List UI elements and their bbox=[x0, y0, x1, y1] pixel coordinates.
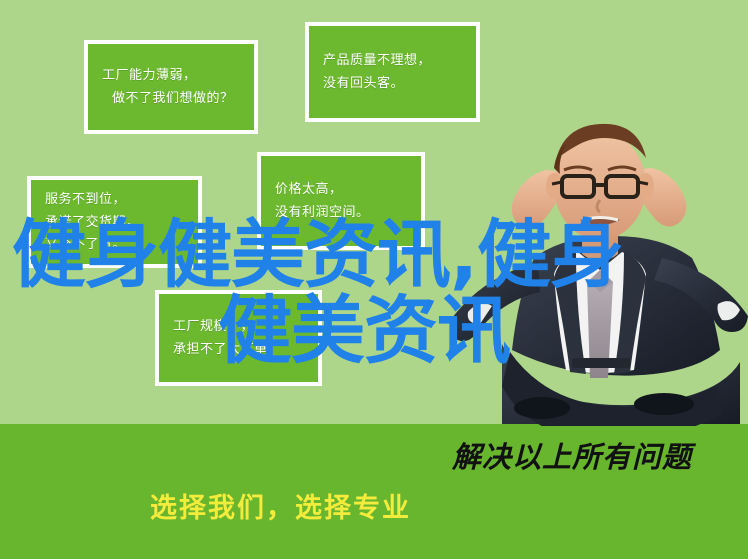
problem-box-price-too-high: 价格太高， 没有利润空间。 bbox=[257, 152, 425, 250]
slogan-solve-all-problems: 解决以上所有问题 bbox=[452, 444, 692, 473]
banner-canvas: 工厂能力薄弱， 做不了我们想做的？ 产品质量不理想， 没有回头客。 价格太高， … bbox=[0, 0, 748, 559]
problem-box-line: 没有利润空间。 bbox=[275, 201, 407, 224]
problem-box-line: 服务不到位， bbox=[45, 188, 184, 211]
problem-box-line: 又交不了货。 bbox=[45, 233, 184, 256]
problem-box-factory-capability: 工厂能力薄弱， 做不了我们想做的？ bbox=[84, 40, 258, 134]
problem-box-line: 工厂规模小， bbox=[173, 315, 304, 338]
problem-box-line: 没有回头客。 bbox=[323, 72, 462, 95]
problem-box-line: 承担不了大订单。 bbox=[173, 338, 304, 361]
problem-box-line: 工厂能力薄弱， bbox=[102, 64, 240, 87]
problem-box-line: 产品质量不理想， bbox=[323, 49, 462, 72]
problem-box-line: 承诺了交货期， bbox=[45, 211, 184, 234]
problem-box-line: 价格太高， bbox=[275, 178, 407, 201]
problem-box-small-factory-scale: 工厂规模小， 承担不了大订单。 bbox=[155, 290, 322, 386]
businessman-photo bbox=[450, 108, 748, 426]
problem-box-line: 做不了我们想做的？ bbox=[102, 87, 240, 110]
problem-box-product-quality: 产品质量不理想， 没有回头客。 bbox=[305, 22, 480, 122]
problem-box-poor-service: 服务不到位， 承诺了交货期， 又交不了货。 bbox=[27, 176, 202, 268]
slogan-choose-us: 选择我们，选择专业 bbox=[150, 495, 411, 522]
